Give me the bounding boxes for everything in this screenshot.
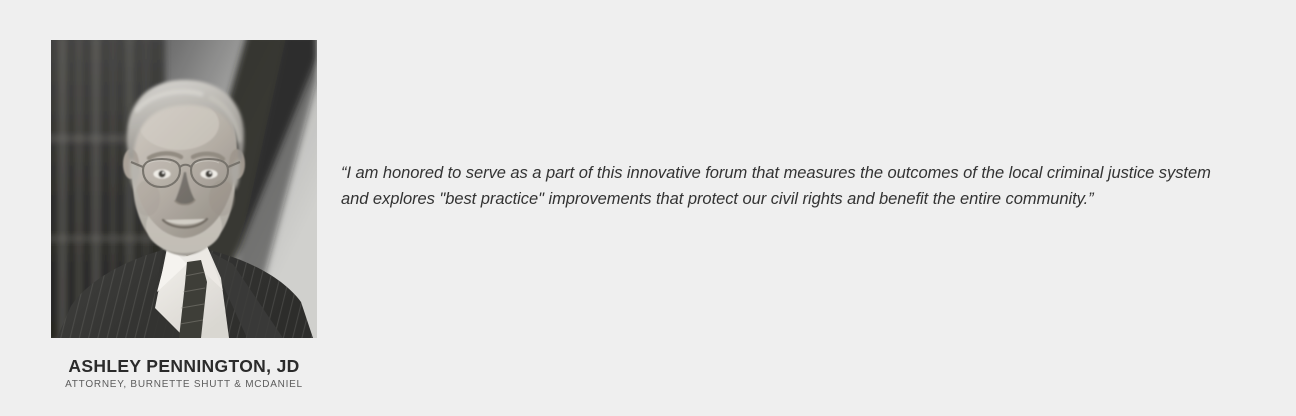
avatar xyxy=(51,40,317,338)
quote-text: “I am honored to serve as a part of this… xyxy=(341,160,1241,212)
person-role: ATTORNEY, BURNETTE SHUTT & MCDANIEL xyxy=(51,375,317,390)
person-name: ASHLEY PENNINGTON, JD xyxy=(51,338,317,375)
testimonial-card: ASHLEY PENNINGTON, JD ATTORNEY, BURNETTE… xyxy=(0,0,1296,416)
person-block: ASHLEY PENNINGTON, JD ATTORNEY, BURNETTE… xyxy=(51,40,317,390)
portrait-photo xyxy=(51,40,317,338)
quote-block: “I am honored to serve as a part of this… xyxy=(341,160,1241,212)
